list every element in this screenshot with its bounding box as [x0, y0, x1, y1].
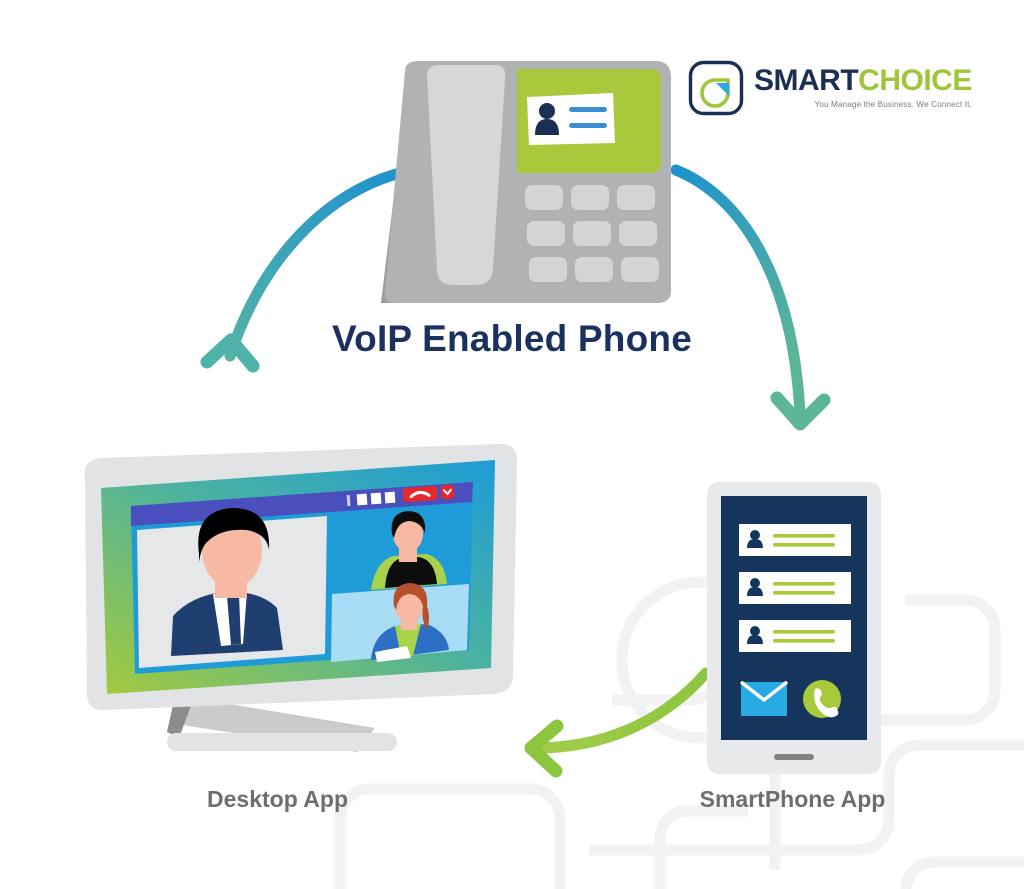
contact-line-2 [773, 591, 835, 595]
arrow-voip-to-smartphone [676, 170, 824, 424]
main-speaker-tile[interactable] [137, 508, 327, 668]
keypad-key[interactable] [621, 257, 659, 282]
watermark-path-4 [660, 811, 748, 889]
contact-line-2 [773, 639, 835, 643]
desktop-monitor-icon [75, 438, 525, 778]
contact-row-2[interactable] [739, 572, 851, 604]
keypad-key[interactable] [619, 221, 657, 246]
contact-line-1 [773, 534, 835, 538]
smartchoice-logo: SMARTCHOICE You Manage the Business. We … [688, 60, 972, 116]
arrowhead-left-icon [531, 726, 557, 771]
logo-word-choice: CHOICE [858, 64, 972, 97]
contact-line-1 [569, 107, 607, 112]
desktop-app-label: Desktop App [140, 786, 415, 813]
call-button[interactable] [803, 680, 841, 718]
phone-keypad [525, 185, 659, 282]
page-title: VoIP Enabled Phone [0, 318, 1024, 360]
smartphone-icon [703, 478, 885, 778]
hang-up-options[interactable] [441, 485, 455, 500]
square-icon[interactable] [371, 493, 382, 505]
smartchoice-logo-icon [688, 60, 744, 116]
keypad-key[interactable] [617, 185, 655, 210]
arrow-smartphone-to-desktop [531, 673, 706, 771]
contact-line-2 [569, 123, 607, 128]
monitor-base [167, 733, 397, 751]
contact-row-3[interactable] [739, 620, 851, 652]
keypad-key[interactable] [525, 185, 563, 210]
contact-line-1 [773, 582, 835, 586]
watermark-path-5 [906, 862, 1024, 889]
logo-word-smart: SMART [754, 64, 858, 97]
home-bar[interactable] [774, 754, 814, 760]
keypad-key[interactable] [573, 221, 611, 246]
contact-row-1[interactable] [739, 524, 851, 556]
contact-line-1 [773, 630, 835, 634]
arrowhead-down-icon [777, 398, 824, 424]
keypad-key[interactable] [575, 257, 613, 282]
participant-tile-2[interactable] [331, 583, 469, 662]
infographic-canvas: SMARTCHOICE You Manage the Business. We … [0, 0, 1024, 889]
desk-phone-icon [375, 55, 680, 310]
square-icon[interactable] [357, 494, 368, 506]
square-icon[interactable] [385, 492, 396, 504]
keypad-key[interactable] [529, 257, 567, 282]
mail-button[interactable] [741, 682, 787, 716]
participant-tile-1[interactable] [332, 506, 471, 592]
keypad-key[interactable] [527, 221, 565, 246]
logo-word: SMARTCHOICE [754, 66, 972, 96]
keypad-key[interactable] [571, 185, 609, 210]
logo-tagline: You Manage the Business. We Connect It. [754, 101, 972, 109]
contact-line-2 [773, 543, 835, 547]
phone-contact-card [527, 93, 615, 145]
logo-wordmark: SMARTCHOICE You Manage the Business. We … [754, 66, 972, 109]
smartphone-app-label: SmartPhone App [655, 786, 930, 813]
